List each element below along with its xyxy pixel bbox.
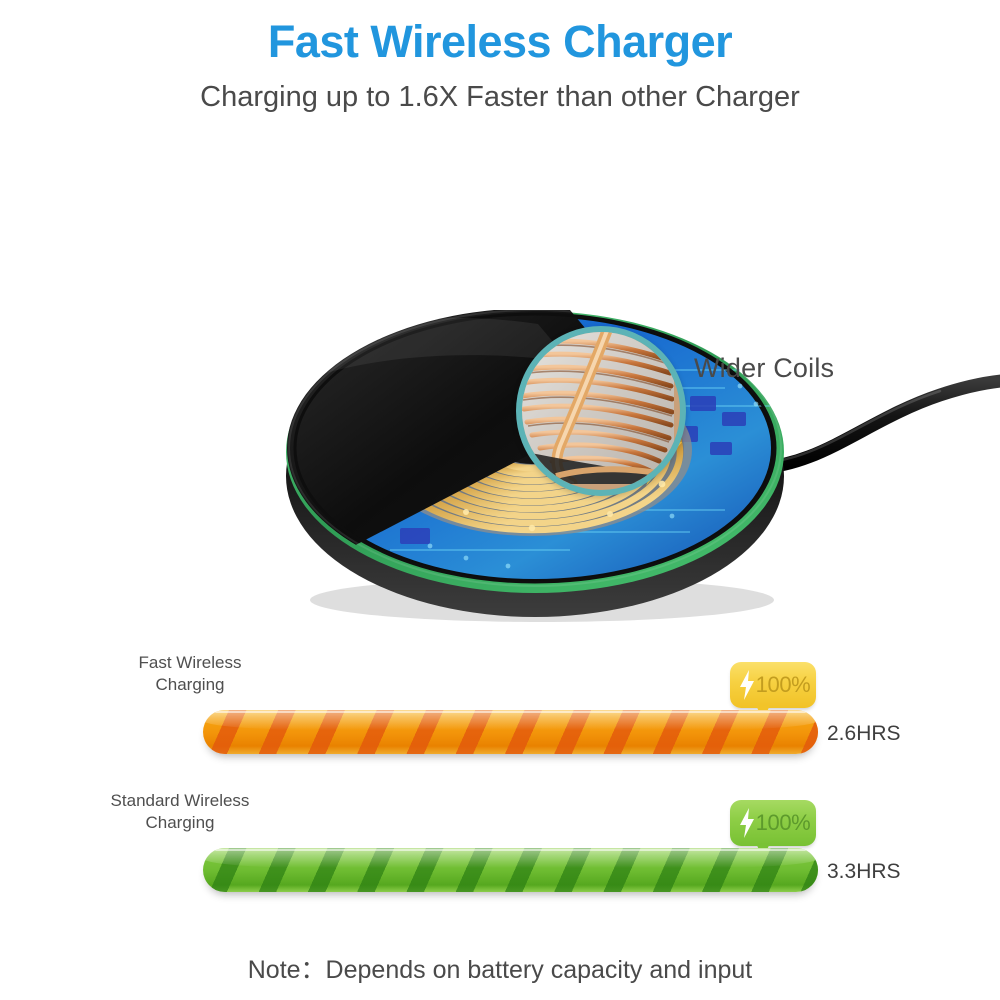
- standard-charging-time: 3.3HRS: [827, 860, 901, 884]
- fast-charging-time: 2.6HRS: [827, 722, 901, 746]
- product-scene: Wider Coils: [0, 150, 1000, 650]
- standard-charging-label: Standard Wireless Charging: [50, 790, 310, 834]
- coil-closeup-icon: [516, 326, 674, 484]
- footer-note: Note：Depends on battery capacity and inp…: [0, 950, 1000, 986]
- infographic-page: Fast Wireless Charger Charging up to 1.6…: [0, 0, 1000, 1000]
- fast-bar-gloss: [203, 710, 818, 730]
- standard-bar-topline: [215, 849, 805, 851]
- charging-comparison: Fast Wireless Charging 100% 2.6HRS Stand…: [0, 640, 1000, 920]
- standard-charging-bar: [203, 848, 818, 892]
- standard-charging-badge: 100%: [730, 800, 816, 846]
- lightning-bolt-icon: [739, 670, 755, 700]
- lightning-bolt-icon: [739, 808, 755, 838]
- page-title: Fast Wireless Charger: [0, 18, 1000, 65]
- wider-coils-label: Wider Coils: [694, 353, 834, 384]
- fast-bar-topline: [215, 711, 805, 713]
- fast-charging-badge: 100%: [730, 662, 816, 708]
- fast-charging-label: Fast Wireless Charging: [60, 652, 320, 696]
- standard-bar-gloss: [203, 848, 818, 868]
- wider-coils-callout: [516, 326, 686, 496]
- page-subtitle: Charging up to 1.6X Faster than other Ch…: [0, 80, 1000, 115]
- fast-charging-bar: [203, 710, 818, 754]
